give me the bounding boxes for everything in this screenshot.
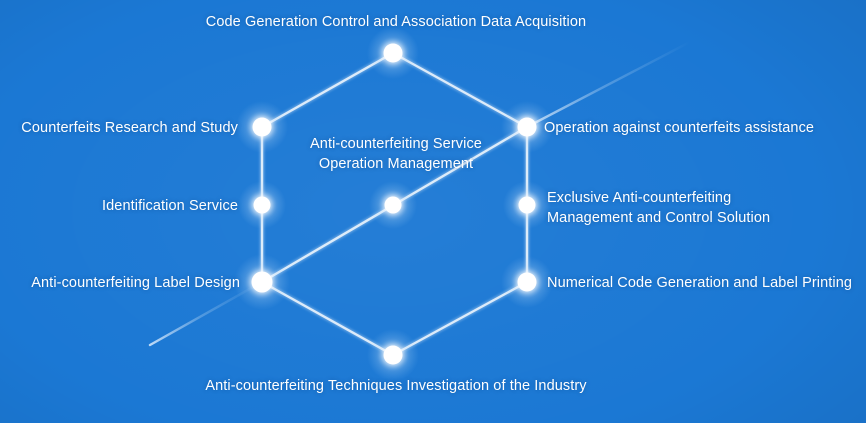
label-anti-counterfeiting-service-operation-management: Anti-counterfeiting Service Operation Ma…	[242, 134, 550, 174]
label-counterfeits-research: Counterfeits Research and Study	[0, 118, 238, 138]
node-label-design[interactable]	[252, 272, 273, 293]
node-identification-service[interactable]	[254, 197, 271, 214]
node-techniques-investigation[interactable]	[384, 346, 403, 365]
node-layer	[252, 44, 537, 365]
label-techniques-investigation: Anti-counterfeiting Techniques Investiga…	[0, 376, 792, 396]
diagram-canvas: Code Generation Control and Association …	[0, 0, 866, 423]
label-identification-service: Identification Service	[0, 196, 238, 216]
node-numerical-code-label-printing[interactable]	[518, 273, 537, 292]
node-anti-counterfeiting-service-operation-management[interactable]	[385, 197, 402, 214]
node-code-generation-control[interactable]	[384, 44, 403, 63]
label-exclusive-management-control: Exclusive Anti-counterfeiting Management…	[547, 188, 865, 228]
ray-upper-right-line	[527, 42, 690, 127]
label-operation-against-counterfeits: Operation against counterfeits assistanc…	[544, 118, 864, 138]
node-exclusive-management-control[interactable]	[519, 197, 536, 214]
label-numerical-code-label-printing: Numerical Code Generation and Label Prin…	[547, 273, 865, 293]
label-code-generation-control: Code Generation Control and Association …	[0, 12, 792, 32]
label-label-design: Anti-counterfeiting Label Design	[0, 273, 240, 293]
